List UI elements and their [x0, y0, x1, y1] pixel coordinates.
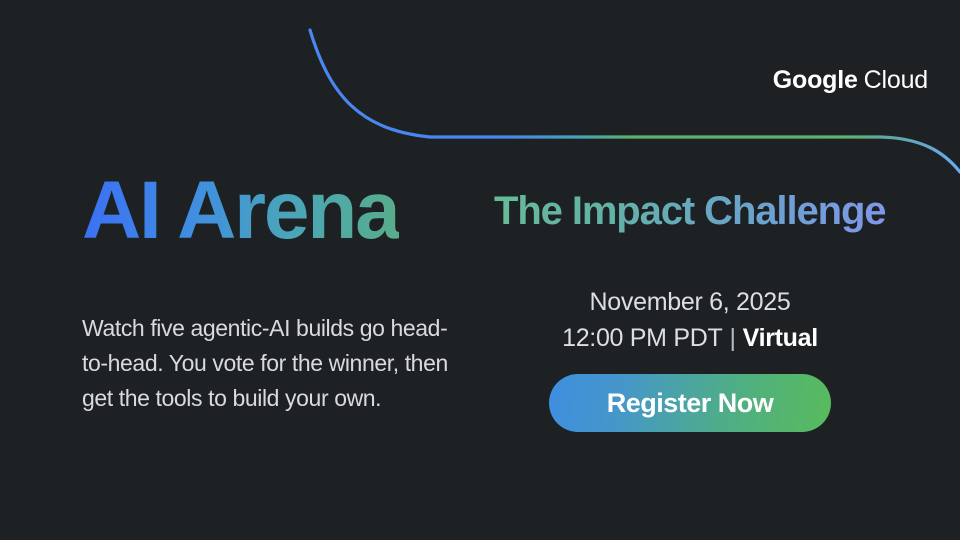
event-date: November 6, 2025 [520, 286, 860, 319]
event-format-badge: Virtual [743, 324, 818, 352]
cta-wrapper: Register Now [520, 374, 860, 432]
event-details: November 6, 2025 12:00 PM PDT|Virtual Re… [520, 286, 860, 432]
register-now-button[interactable]: Register Now [549, 374, 831, 432]
event-time: 12:00 PM PDT [562, 324, 722, 352]
page-title: AI Arena [82, 163, 399, 258]
headline-row: AI Arena The Impact Challenge [82, 163, 900, 258]
promo-banner: GoogleCloud AI Arena The Impact Challeng… [0, 0, 960, 540]
event-time-row: 12:00 PM PDT|Virtual [520, 322, 860, 355]
description-text: Watch five agentic-AI builds go head-to-… [82, 311, 472, 416]
google-cloud-logo: GoogleCloud [773, 66, 928, 95]
logo-google-text: Google [773, 66, 858, 94]
page-subtitle: The Impact Challenge [494, 185, 885, 237]
logo-cloud-text: Cloud [864, 66, 928, 94]
event-separator: | [729, 324, 735, 352]
